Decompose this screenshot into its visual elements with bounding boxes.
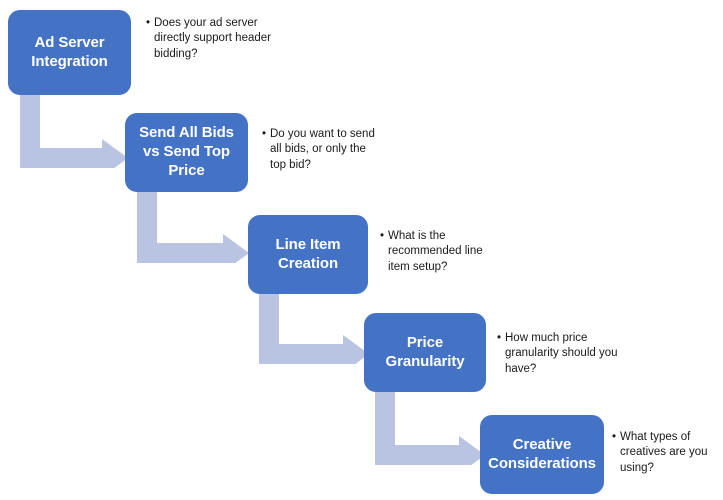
flow-note-text: Does your ad server directly support hea… [154, 16, 296, 62]
flow-node-label: Creative Considerations [488, 436, 596, 474]
elbow-arrow-icon [375, 391, 485, 465]
flow-note-text: What types of creatives are you using? [620, 430, 718, 476]
flow-note-price-granularity: •How much price granularity should you h… [497, 331, 619, 377]
bullet-icon: • [380, 229, 388, 244]
flow-node-label: Price Granularity [386, 334, 465, 372]
flow-note-send-all-bids-vs-send-top-price: •Do you want to send all bids, or only t… [262, 127, 384, 173]
bullet-icon: • [262, 127, 270, 142]
flow-note-text: How much price granularity should you ha… [505, 331, 619, 377]
flowchart-canvas: Ad Server Integration•Does your ad serve… [0, 0, 723, 500]
flow-note-ad-server-integration: •Does your ad server directly support he… [146, 16, 296, 62]
flow-node-label: Send All Bids vs Send Top Price [139, 124, 234, 180]
flow-node-send-all-bids-vs-send-top-price[interactable]: Send All Bids vs Send Top Price [125, 113, 248, 192]
elbow-arrow-icon [20, 94, 128, 168]
flow-node-label: Line Item Creation [276, 236, 341, 274]
flow-note-line-item-creation: •What is the recommended line item setup… [380, 229, 500, 275]
flow-node-creative-considerations[interactable]: Creative Considerations [480, 415, 604, 494]
bullet-icon: • [497, 331, 505, 346]
bullet-icon: • [146, 16, 154, 31]
flow-note-creative-considerations: •What types of creatives are you using? [612, 430, 718, 476]
flow-node-ad-server-integration[interactable]: Ad Server Integration [8, 10, 131, 95]
flow-node-price-granularity[interactable]: Price Granularity [364, 313, 486, 392]
flow-note-text: Do you want to send all bids, or only th… [270, 127, 384, 173]
flow-note-text: What is the recommended line item setup? [388, 229, 500, 275]
flow-node-line-item-creation[interactable]: Line Item Creation [248, 215, 368, 294]
elbow-arrow-icon [137, 191, 249, 263]
flow-node-label: Ad Server Integration [31, 34, 107, 72]
bullet-icon: • [612, 430, 620, 445]
elbow-arrow-icon [259, 292, 369, 364]
